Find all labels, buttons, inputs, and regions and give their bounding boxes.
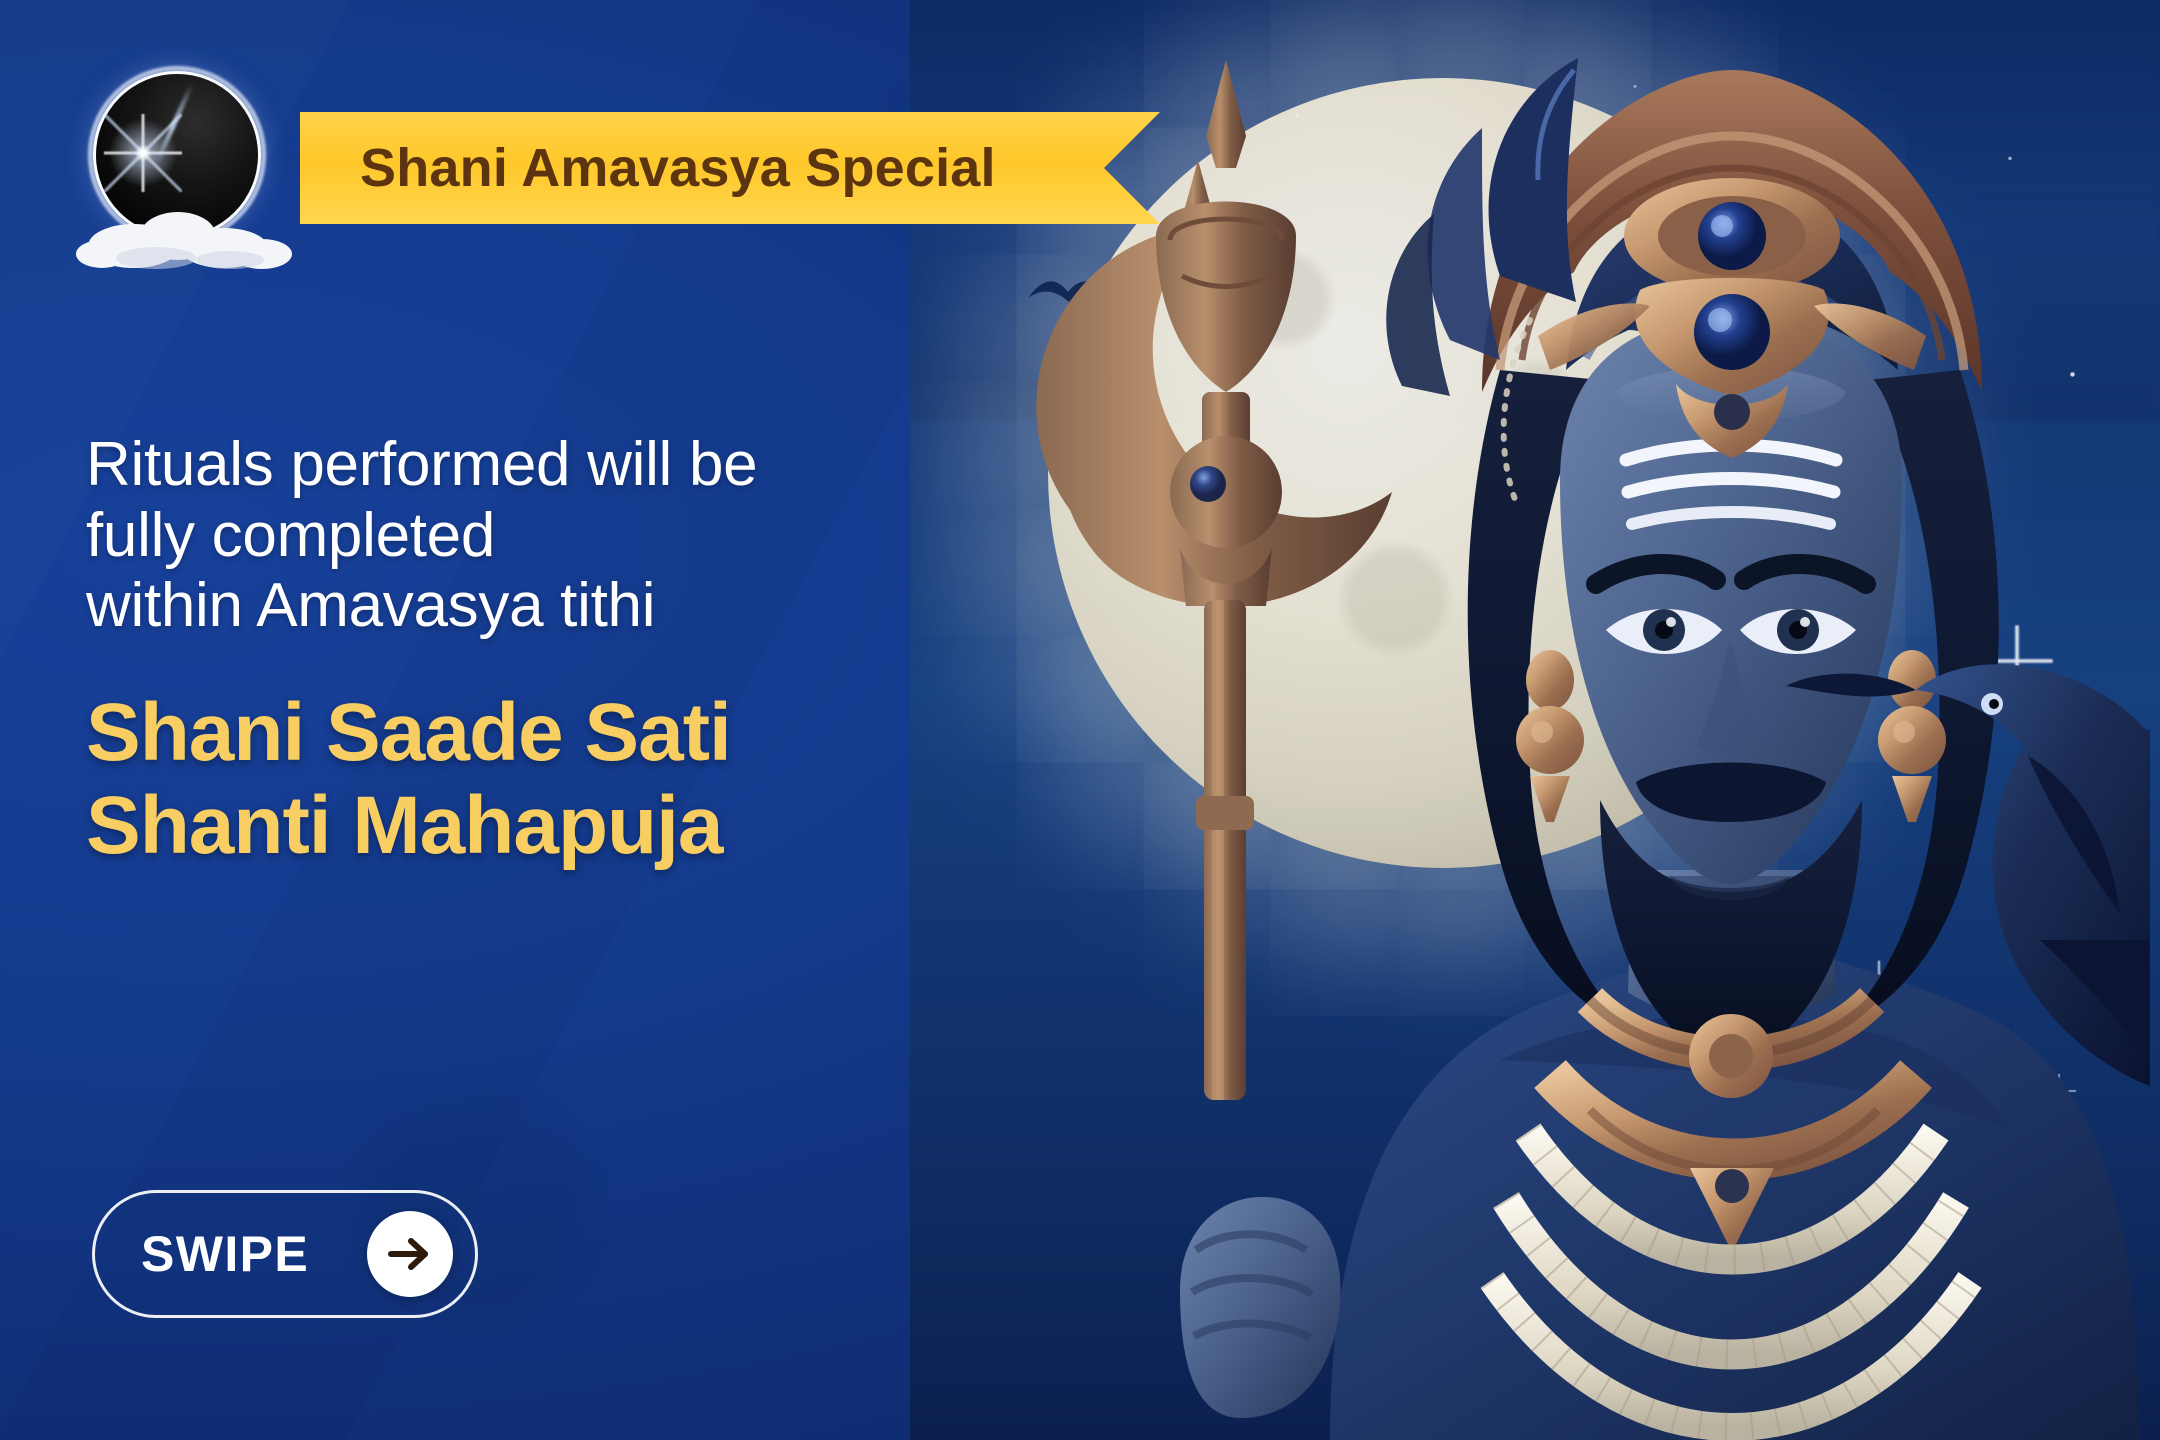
solar-eclipse-icon bbox=[78, 62, 276, 262]
promo-banner: Shani Amavasya Special Rituals performed… bbox=[0, 0, 2160, 1440]
swipe-button[interactable]: SWIPE bbox=[92, 1190, 478, 1318]
arrow-right-icon bbox=[387, 1234, 433, 1274]
title-block: Shani Saade Sati Shanti Mahapuja bbox=[86, 686, 1086, 873]
swipe-arrow-circle[interactable] bbox=[367, 1211, 453, 1297]
cloud-icon bbox=[74, 188, 304, 274]
hand bbox=[1180, 1197, 1340, 1418]
headline-line-3: within Amavasya tithi bbox=[86, 571, 1086, 642]
copy-block: Rituals performed will be fully complete… bbox=[86, 430, 1086, 873]
swipe-label: SWIPE bbox=[141, 1225, 309, 1283]
shani-dev-figure bbox=[1030, 40, 2150, 1440]
headline-line-2: fully completed bbox=[86, 501, 1086, 572]
badge-label: Shani Amavasya Special bbox=[360, 137, 996, 199]
title-line-2: Shanti Mahapuja bbox=[86, 779, 1086, 872]
badge-ribbon: Shani Amavasya Special bbox=[300, 112, 1160, 224]
title-line-1: Shani Saade Sati bbox=[86, 686, 1086, 779]
headline-line-1: Rituals performed will be bbox=[86, 430, 1086, 501]
